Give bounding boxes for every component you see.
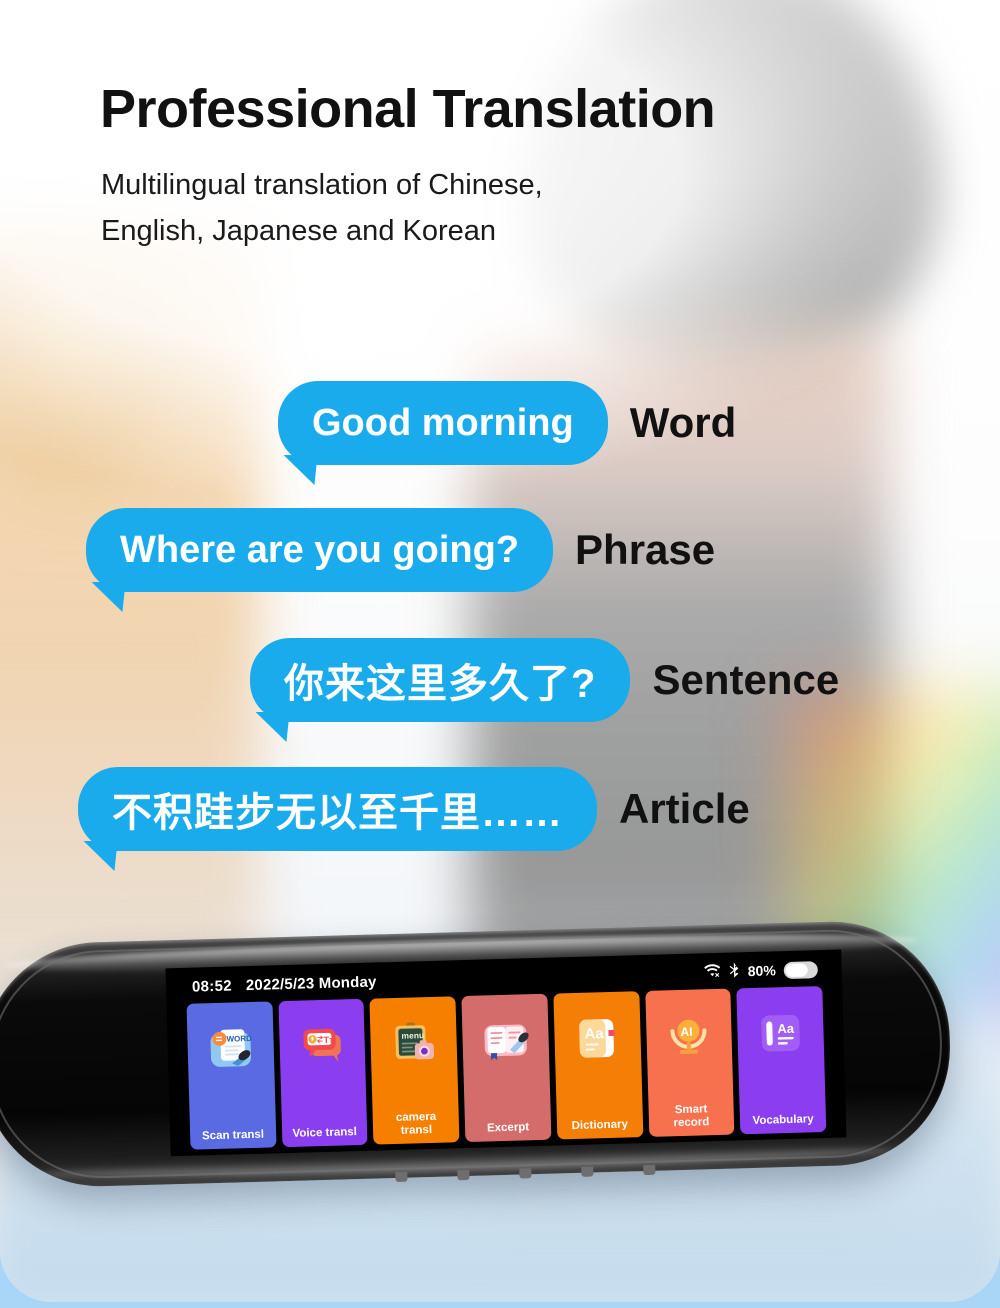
vocabulary-icon: Aa [756, 1009, 805, 1058]
speech-bubble: 你来这里多久了? [250, 638, 630, 722]
app-tile-label: Scan transl [190, 1128, 276, 1144]
bubble-category-label: Sentence [652, 656, 839, 704]
page-title: Professional Translation [100, 78, 715, 140]
bubble-row-sentence: 你来这里多久了? Sentence [250, 638, 839, 722]
ai-record-icon: AI [664, 1011, 713, 1060]
device-button[interactable] [395, 1172, 407, 1182]
device-button[interactable] [643, 1165, 655, 1175]
status-time: 08:52 [192, 977, 232, 995]
bubble-row-phrase: Where are you going? Phrase [86, 508, 715, 592]
app-tile-scan-transl[interactable]: WORD Scan transl [186, 1001, 276, 1149]
dictionary-icon: Aa [573, 1014, 622, 1063]
bubble-row-article: 不积跬步无以至千里…… Article [78, 767, 750, 851]
promo-page: Professional Translation Multilingual tr… [0, 0, 1000, 1308]
app-tile-smart-record[interactable]: AI Smart record [645, 989, 735, 1137]
svg-text:Aa: Aa [777, 1021, 795, 1036]
app-tile-dictionary[interactable]: Aa Dictionary [553, 991, 643, 1139]
page-subtitle: Multilingual translation of Chinese, Eng… [101, 163, 543, 255]
app-tile-label: Smart record [648, 1102, 734, 1131]
content-card: Professional Translation Multilingual tr… [0, 0, 1000, 1302]
battery-percent: 80% [748, 962, 776, 979]
app-tile-label: camera transl [373, 1110, 459, 1139]
bubble-category-label: Article [619, 785, 750, 833]
svg-text:Tт: Tт [323, 1035, 334, 1045]
bluetooth-icon [728, 961, 740, 981]
app-tile-label: Voice transl [282, 1126, 368, 1142]
camera-translate-icon: menu [389, 1019, 438, 1068]
app-tile-label: Dictionary [557, 1118, 643, 1134]
svg-text:WORD: WORD [226, 1034, 252, 1044]
wifi-off-icon [704, 963, 721, 981]
device-button[interactable] [457, 1170, 469, 1180]
battery-icon [784, 961, 818, 979]
svg-text:menu: menu [402, 1030, 425, 1041]
scanning-pen-device: 08:52 2022/5/23 Monday [0, 919, 953, 1190]
device-screen: 08:52 2022/5/23 Monday [165, 949, 846, 1156]
bubble-category-label: Phrase [575, 526, 715, 574]
app-tile-camera-transl[interactable]: menu camera transl [370, 996, 460, 1144]
speech-bubble: 不积跬步无以至千里…… [78, 767, 597, 851]
app-tile-vocabulary[interactable]: Aa Vocabulary [737, 986, 827, 1134]
device-button[interactable] [519, 1168, 531, 1178]
device-button[interactable] [581, 1166, 593, 1176]
speech-bubble: Where are you going? [86, 508, 553, 592]
app-tile-label: Excerpt [465, 1120, 551, 1136]
excerpt-book-icon [481, 1016, 530, 1065]
svg-text:AI: AI [681, 1025, 693, 1039]
app-tile-label: Vocabulary [740, 1113, 826, 1129]
bubble-row-word: Good morning Word [278, 381, 736, 465]
app-tile-grid: WORD Scan transl [186, 986, 826, 1150]
svg-text:Aa: Aa [584, 1025, 604, 1043]
scan-translate-icon: WORD [206, 1024, 255, 1073]
status-date: 2022/5/23 Monday [246, 973, 377, 994]
voice-translate-icon: Tт [298, 1021, 347, 1070]
status-indicators: 80% [704, 959, 819, 982]
speech-bubble: Good morning [278, 381, 608, 465]
bubble-category-label: Word [630, 399, 737, 447]
app-tile-voice-transl[interactable]: Tт Voice transl [278, 999, 368, 1147]
app-tile-excerpt[interactable]: Excerpt [462, 994, 552, 1142]
